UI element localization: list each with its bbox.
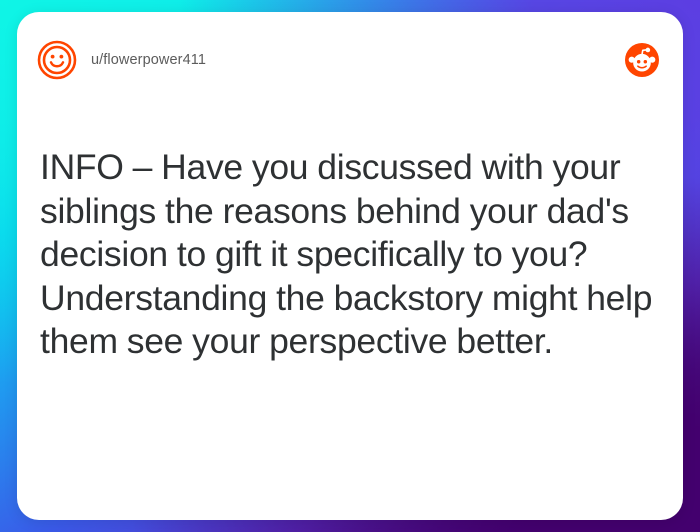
post-body-text: INFO – Have you discussed with your sibl… — [40, 146, 657, 364]
reddit-snoo-icon[interactable] — [625, 43, 659, 77]
reddit-post-card: u/flowerpower411 INFO – Have you discuss… — [17, 12, 683, 520]
post-header: u/flowerpower411 — [17, 32, 683, 88]
username-label: u/flowerpower411 — [91, 52, 206, 68]
smiley-face-avatar-icon[interactable] — [37, 40, 77, 80]
